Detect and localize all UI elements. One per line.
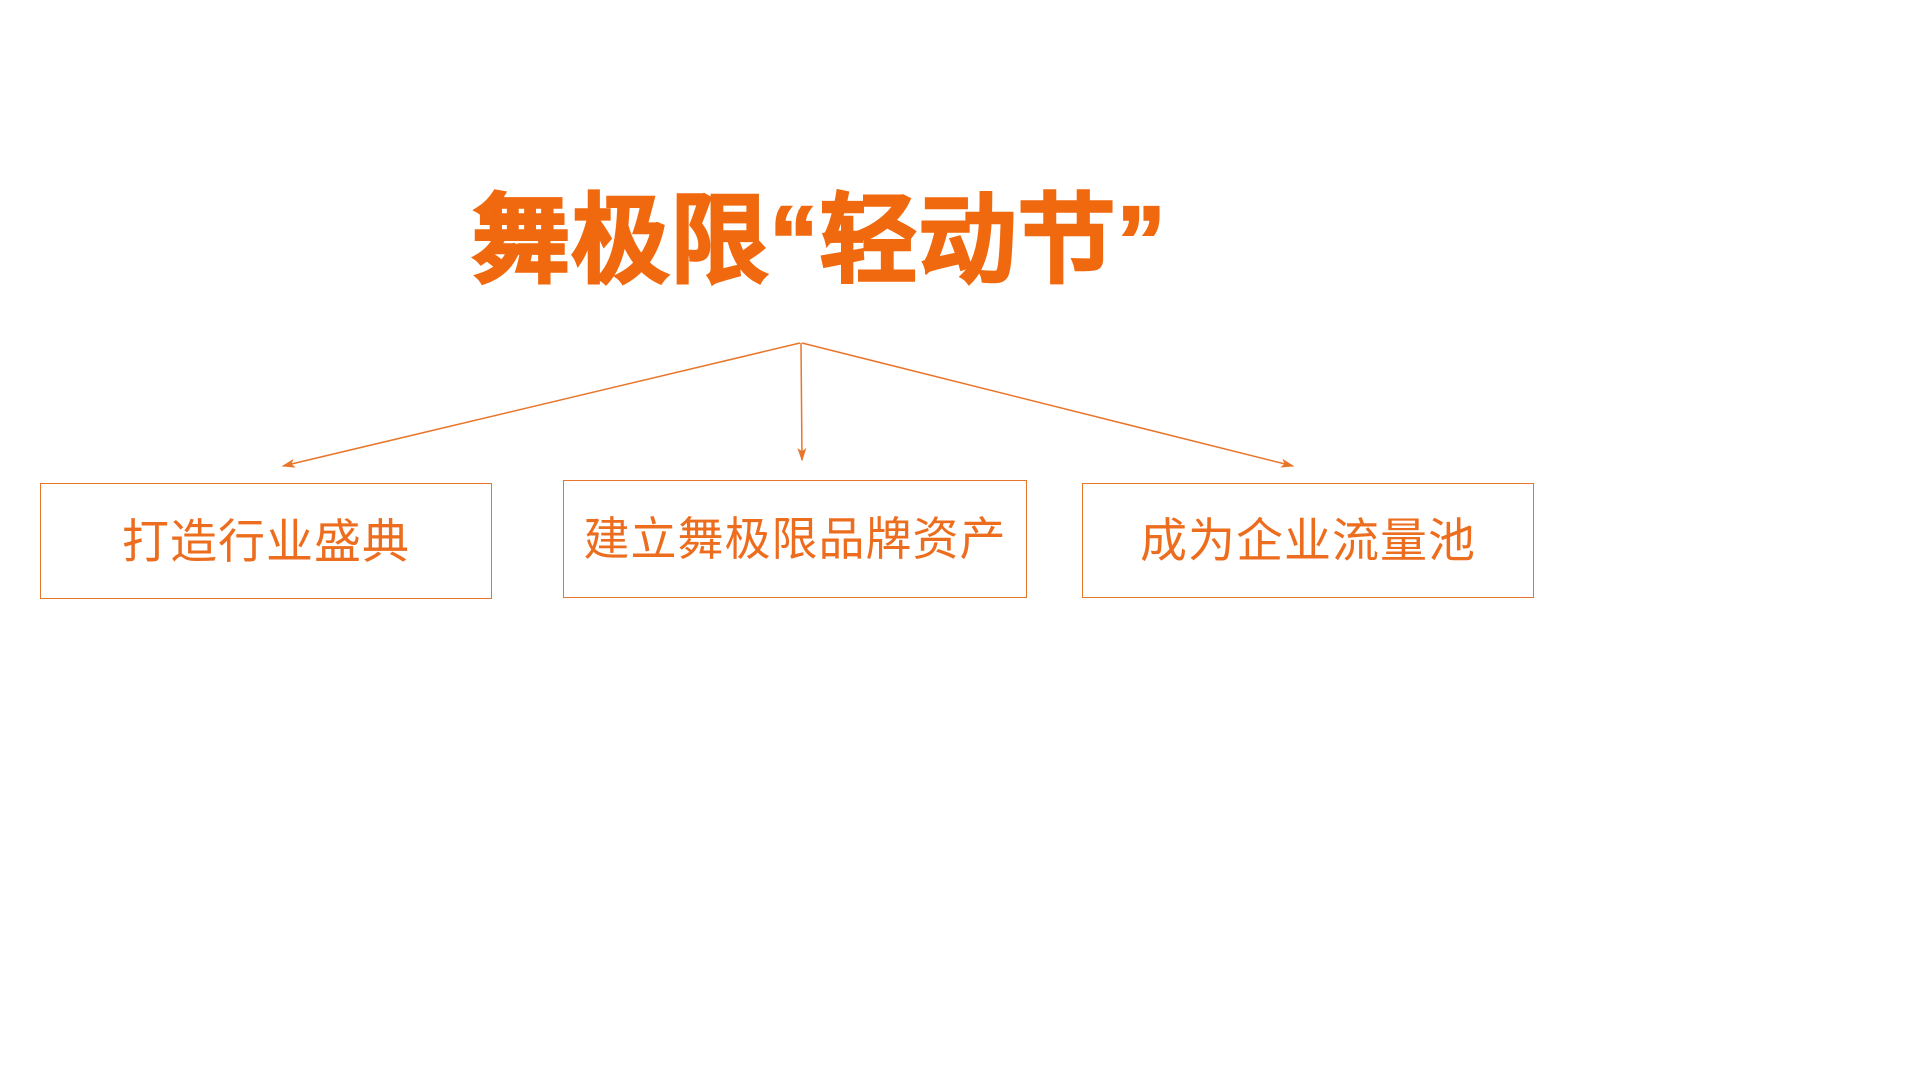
branch-label-3: 成为企业流量池 bbox=[1140, 517, 1476, 564]
page-title: 舞极限“轻动节” bbox=[0, 192, 1640, 291]
connector-middle-line bbox=[801, 343, 802, 460]
branch-box-3[interactable]: 成为企业流量池 bbox=[1082, 483, 1534, 598]
branch-label-1: 打造行业盛典 bbox=[122, 518, 410, 565]
connector-left-line bbox=[283, 343, 800, 466]
branch-label-2: 建立舞极限品牌资产 bbox=[584, 516, 1007, 562]
branch-box-2[interactable]: 建立舞极限品牌资产 bbox=[563, 480, 1027, 598]
slide-canvas: 舞极限“轻动节” 打造行业盛典 建立舞极限品牌资产 成为企业流量池 bbox=[0, 0, 1920, 1080]
branch-box-1[interactable]: 打造行业盛典 bbox=[40, 483, 492, 599]
connector-right-line bbox=[802, 343, 1293, 466]
